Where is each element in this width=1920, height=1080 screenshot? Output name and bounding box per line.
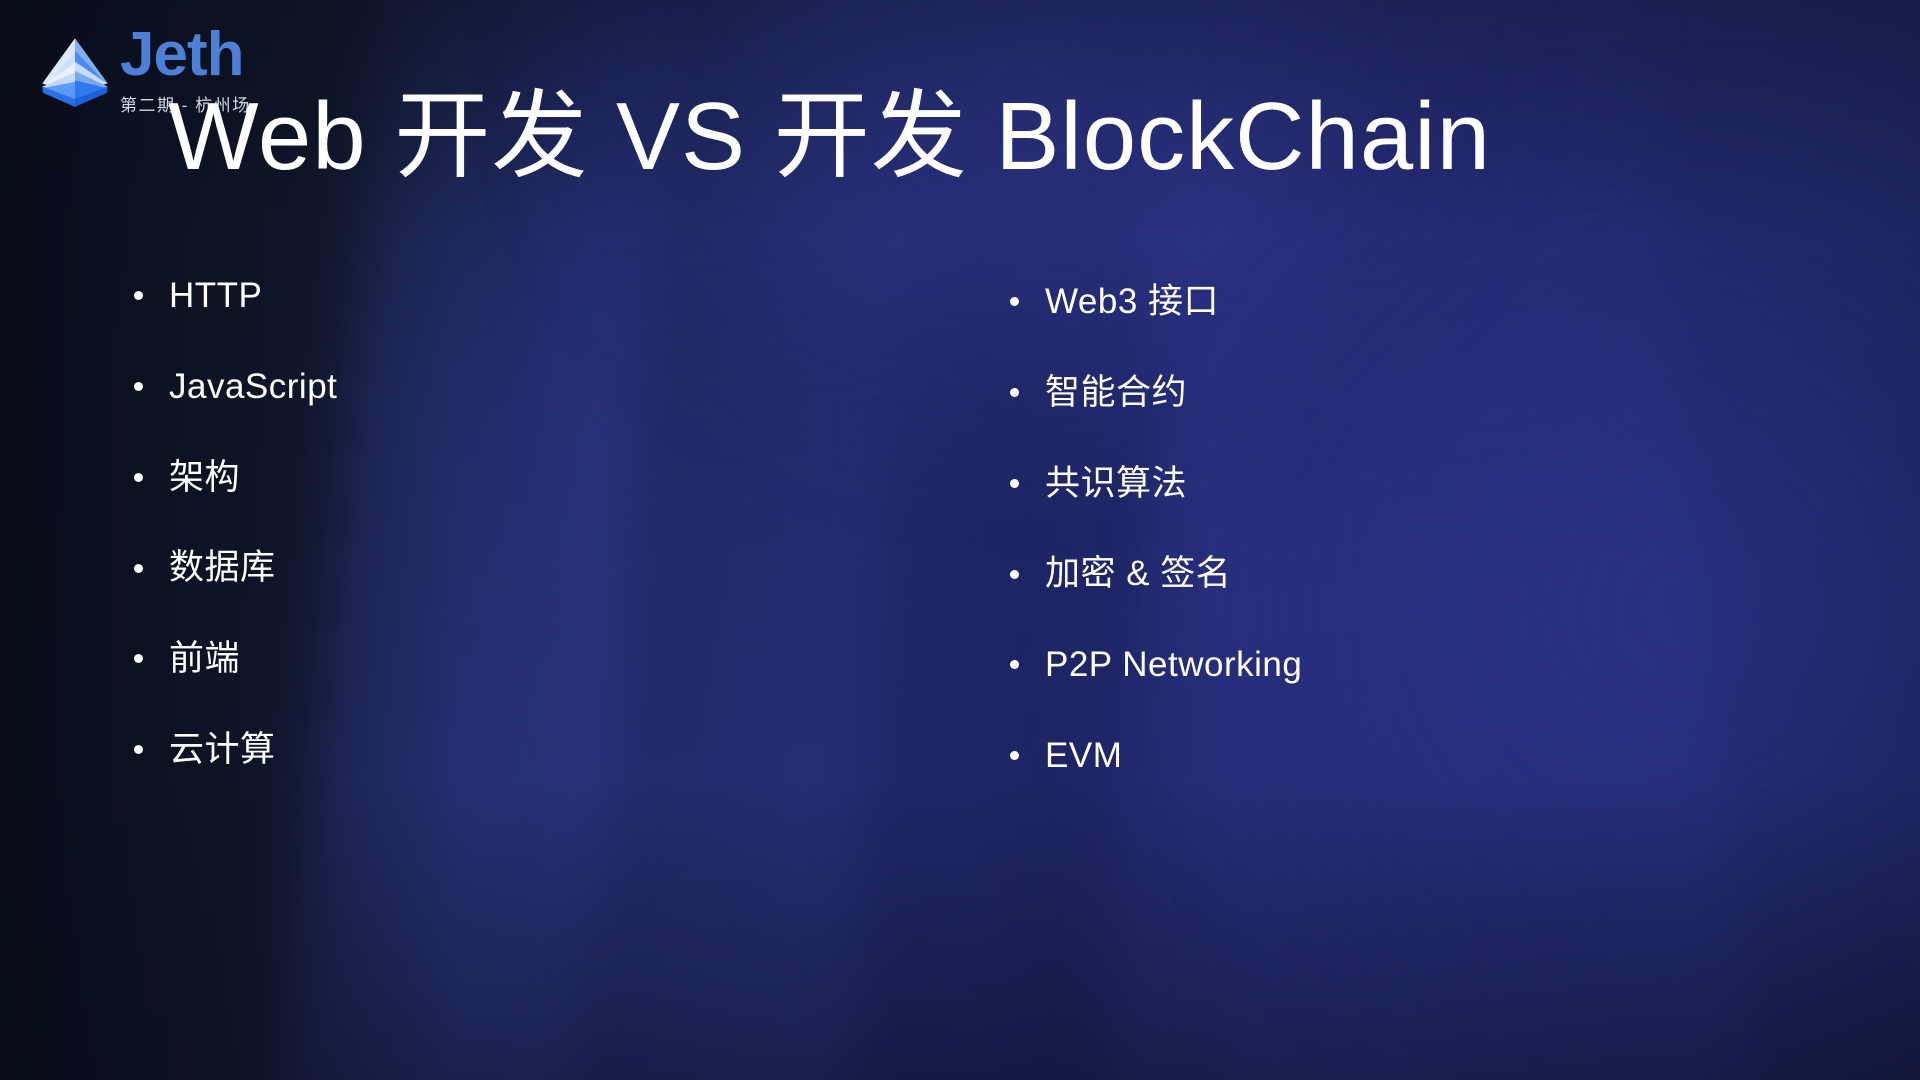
list-item: 前端 (134, 637, 860, 681)
slide-title: Web 开发 VS 开发 BlockChain (168, 84, 1491, 190)
list-item: JavaScript (134, 365, 860, 409)
content-columns: HTTP JavaScript 架构 数据库 前端 云计算 (0, 258, 1920, 898)
jeth-pyramid-icon (36, 32, 114, 110)
presentation-slide: Jeth 第二期 - 杭州场 Web 开发 VS 开发 BlockChain H… (0, 0, 1920, 1080)
list-item: HTTP (134, 274, 860, 318)
list-item-label: 共识算法 (1045, 462, 1187, 506)
list-item: 智能合约 (1010, 371, 1920, 415)
list-item-label: 智能合约 (1045, 371, 1187, 415)
bullet-dot-icon (134, 291, 143, 300)
list-item-label: EVM (1045, 734, 1122, 778)
right-column: Web3 接口 智能合约 共识算法 加密 & 签名 P2P Networking… (860, 258, 1920, 898)
list-item: 云计算 (134, 728, 860, 772)
list-item: 数据库 (134, 546, 860, 590)
list-item: EVM (1010, 734, 1920, 778)
list-item-label: 前端 (169, 637, 240, 681)
bullet-dot-icon (134, 745, 143, 754)
list-item-label: P2P Networking (1045, 643, 1302, 687)
bullet-dot-icon (134, 382, 143, 391)
bullet-dot-icon (134, 654, 143, 663)
bullet-dot-icon (134, 473, 143, 482)
list-item-label: 架构 (169, 456, 240, 500)
list-item-label: Web3 接口 (1045, 280, 1219, 324)
list-item-label: 加密 & 签名 (1045, 552, 1231, 596)
list-item: 共识算法 (1010, 462, 1920, 506)
bullet-dot-icon (1010, 751, 1019, 760)
bullet-dot-icon (1010, 297, 1019, 306)
list-item-label: HTTP (169, 274, 262, 318)
bullet-dot-icon (1010, 660, 1019, 669)
list-item: 架构 (134, 456, 860, 500)
left-column: HTTP JavaScript 架构 数据库 前端 云计算 (0, 258, 860, 898)
list-item-label: 数据库 (169, 546, 276, 590)
bullet-dot-icon (1010, 388, 1019, 397)
list-item-label: 云计算 (169, 728, 276, 772)
list-item: P2P Networking (1010, 643, 1920, 687)
bullet-dot-icon (1010, 479, 1019, 488)
list-item: 加密 & 签名 (1010, 552, 1920, 596)
logo-wordmark: Jeth (120, 26, 243, 85)
bullet-dot-icon (134, 564, 143, 573)
bullet-dot-icon (1010, 570, 1019, 579)
list-item: Web3 接口 (1010, 280, 1920, 324)
list-item-label: JavaScript (169, 365, 337, 409)
